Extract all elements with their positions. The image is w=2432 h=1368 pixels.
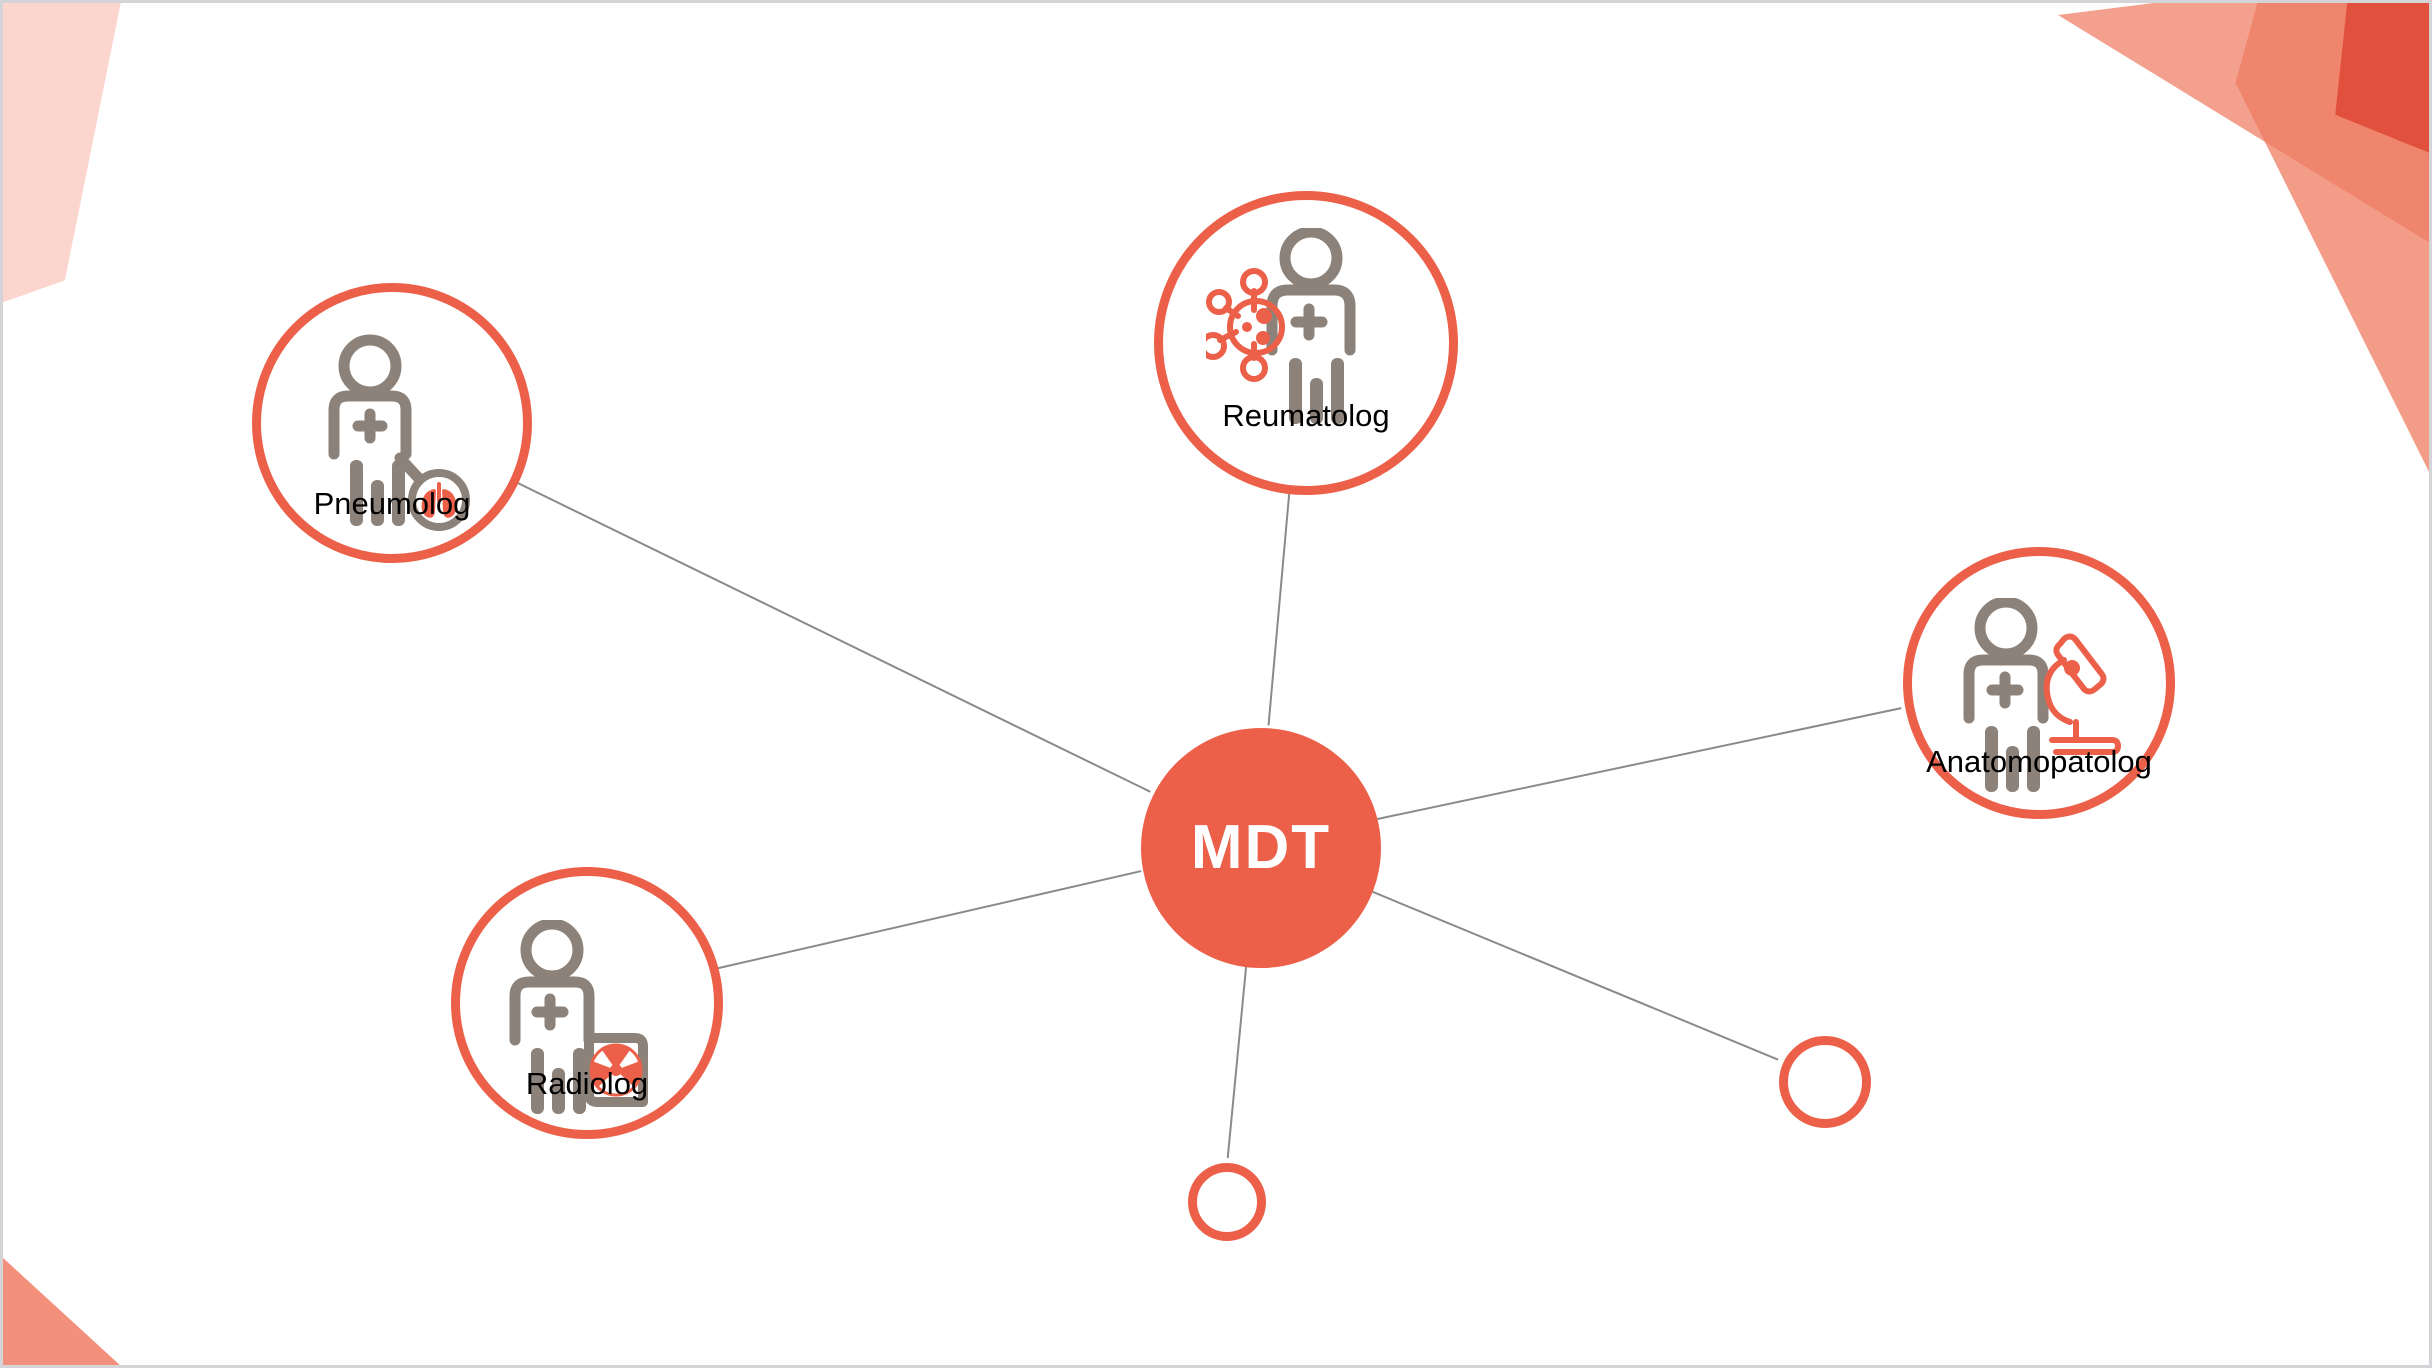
connector-anatomopatolog-to-hub	[1375, 708, 1901, 819]
node-label-radiolog: Radiolog	[460, 1068, 714, 1099]
node-label-reumatolog: Reumatolog	[1163, 400, 1449, 431]
node-label-pneumolog: Pneumolog	[261, 488, 523, 519]
hub-mdt[interactable]: MDT	[1141, 728, 1381, 968]
empty-node-right[interactable]	[1779, 1036, 1871, 1128]
connector-empty-right-to-hub	[1368, 890, 1778, 1060]
connector-radiolog-to-hub	[718, 871, 1141, 968]
connector-reumatolog-to-hub	[1269, 492, 1290, 725]
node-pneumolog[interactable]: Pneumolog	[252, 283, 532, 563]
node-radiolog[interactable]: Radiolog	[451, 867, 723, 1139]
diagram-canvas: Pneumolog	[0, 0, 2432, 1368]
connector-empty-bottom-to-hub	[1228, 963, 1247, 1158]
connector-pneumolog-to-hub	[516, 482, 1150, 791]
empty-node-bottom[interactable]	[1188, 1163, 1266, 1241]
node-anatomopatolog[interactable]: Anatomopatolog	[1903, 547, 2175, 819]
node-reumatolog[interactable]: Reumatolog	[1154, 191, 1458, 495]
hub-label: MDT	[1191, 817, 1331, 879]
node-label-anatomopatolog: Anatomopatolog	[1912, 746, 2166, 777]
